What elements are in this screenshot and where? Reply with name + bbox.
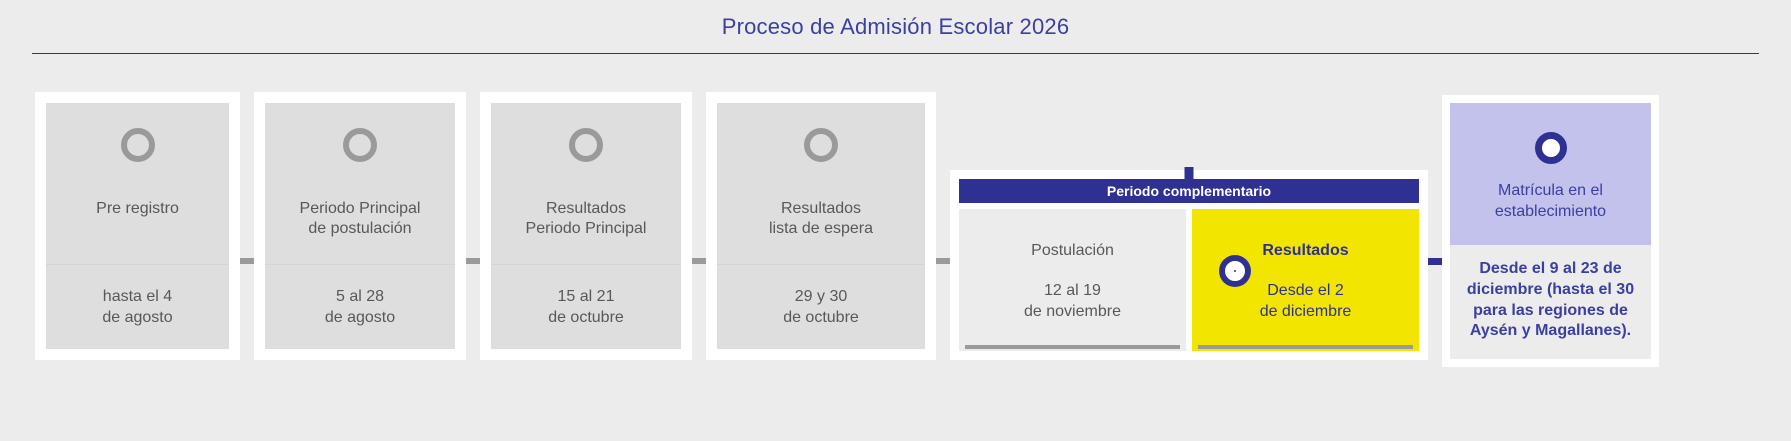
timeline-node-upcoming-icon[interactable] [1535, 132, 1567, 164]
matricula-date: Desde el 9 al 23 de diciembre (hasta el … [1458, 259, 1643, 342]
step-card-resultados-lista-espera[interactable]: Resultados lista de espera 29 y 30 de oc… [706, 92, 936, 360]
step-date: hasta el 4 de agosto [46, 265, 229, 349]
step-date-line1: 5 al 28 [271, 287, 449, 308]
sub-card-title: Postulación [1031, 241, 1114, 261]
sub-card-postulacion[interactable]: Postulación 12 al 19 de noviembre [959, 209, 1186, 351]
node-stem [1185, 167, 1194, 181]
sub-card-date-line2: de diciembre [1260, 302, 1352, 323]
step-title: Pre registro [90, 199, 185, 264]
step-date: 29 y 30 de octubre [717, 265, 925, 349]
step-title: Periodo Principal de postulación [294, 199, 427, 264]
step-card-inner: Resultados lista de espera 29 y 30 de oc… [717, 103, 925, 349]
step-card-inner: Periodo Principal de postulación 5 al 28… [265, 103, 455, 349]
sub-card-underline [965, 345, 1180, 349]
matricula-title-line1: Matrícula en el [1495, 181, 1606, 202]
sub-card-date: 12 al 19 de noviembre [1024, 281, 1121, 323]
node-zone [717, 103, 925, 199]
matricula-title-line2: establecimiento [1495, 202, 1606, 223]
sub-card-date-line1: 12 al 19 [1024, 281, 1121, 302]
sub-card-title: Resultados [1262, 241, 1348, 261]
step-card-periodo-complementario[interactable]: Periodo complementario Postulación 12 al… [950, 170, 1428, 360]
admission-timeline: Pre registro hasta el 4 de agosto Period… [0, 92, 1791, 402]
timeline-node-icon[interactable] [569, 128, 603, 162]
step-title-line1: Periodo Principal [300, 199, 421, 219]
step-title-line2: lista de espera [769, 219, 873, 239]
timeline-node-icon[interactable] [804, 128, 838, 162]
matricula-title: Matrícula en el establecimiento [1487, 181, 1614, 223]
step-card-periodo-principal[interactable]: Periodo Principal de postulación 5 al 28… [254, 92, 466, 360]
matricula-top: Matrícula en el establecimiento [1450, 103, 1651, 245]
step-title-line1: Resultados [769, 199, 873, 219]
step-title: Resultados Periodo Principal [520, 199, 653, 264]
sub-card-date: Desde el 2 de diciembre [1260, 281, 1352, 323]
step-card-inner: Resultados Periodo Principal 15 al 21 de… [491, 103, 681, 349]
sub-card-date-line1: Desde el 2 [1260, 281, 1352, 302]
periodo-complementario-body: Postulación 12 al 19 de noviembre Result… [959, 203, 1419, 351]
sub-card-resultados[interactable]: Resultados Desde el 2 de diciembre [1192, 209, 1419, 351]
periodo-complementario-header: Periodo complementario [959, 179, 1419, 203]
step-date-line2: de octubre [723, 308, 919, 329]
timeline-node-current[interactable] [1225, 261, 1245, 281]
page-header: Proceso de Admisión Escolar 2026 [32, 0, 1759, 54]
matricula-body: Desde el 9 al 23 de diciembre (hasta el … [1450, 245, 1651, 359]
node-zone [265, 103, 455, 199]
step-title-line2: de postulación [300, 219, 421, 239]
node-zone [491, 103, 681, 199]
timeline-cards: Pre registro hasta el 4 de agosto Period… [0, 92, 1791, 402]
step-card-resultados-periodo-principal[interactable]: Resultados Periodo Principal 15 al 21 de… [480, 92, 692, 360]
step-date-line2: de agosto [271, 308, 449, 329]
timeline-node-icon[interactable] [343, 128, 377, 162]
step-card-pre-registro[interactable]: Pre registro hasta el 4 de agosto [35, 92, 240, 360]
sub-card-date-line2: de noviembre [1024, 302, 1121, 323]
step-date-line2: de agosto [52, 308, 223, 329]
sub-card-underline [1198, 345, 1413, 349]
step-date: 15 al 21 de octubre [491, 265, 681, 349]
step-title: Resultados lista de espera [763, 199, 879, 264]
step-card-inner: Pre registro hasta el 4 de agosto [46, 103, 229, 349]
step-title-line1: Pre registro [96, 200, 179, 217]
step-title-line1: Resultados [526, 199, 647, 219]
step-card-matricula[interactable]: Matrícula en el establecimiento Desde el… [1442, 95, 1659, 367]
step-date-line1: 15 al 21 [497, 287, 675, 308]
step-date: 5 al 28 de agosto [265, 265, 455, 349]
timeline-node-icon[interactable] [121, 128, 155, 162]
page-title: Proceso de Admisión Escolar 2026 [722, 14, 1070, 40]
step-title-line2: Periodo Principal [526, 219, 647, 239]
step-date-line1: 29 y 30 [723, 287, 919, 308]
step-date-line1: hasta el 4 [52, 287, 223, 308]
periodo-complementario-label: Periodo complementario [1107, 183, 1271, 199]
node-zone [46, 103, 229, 199]
step-date-line2: de octubre [497, 308, 675, 329]
